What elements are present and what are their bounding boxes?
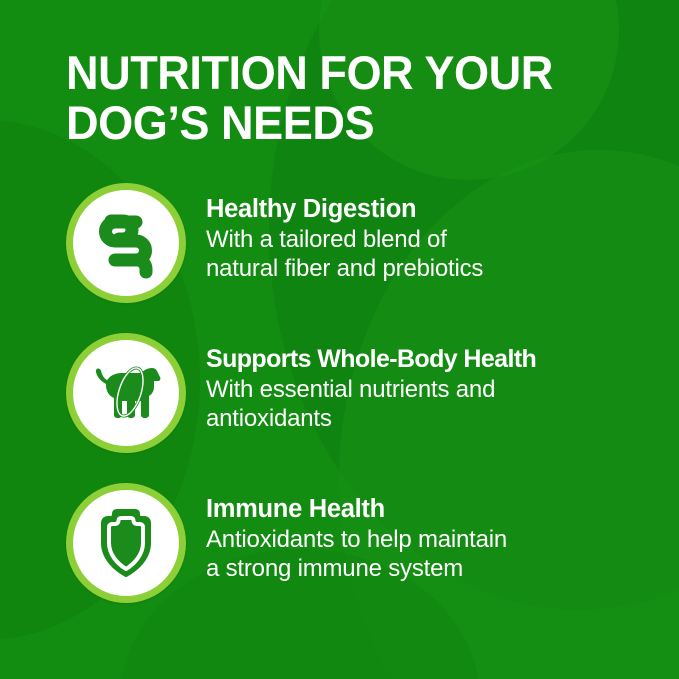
- shield-immune-icon: [89, 503, 163, 583]
- benefit-title: Immune Health: [206, 495, 507, 524]
- benefit-icon-badge: [66, 483, 186, 603]
- benefit-text-block: Healthy Digestion With a tailored blend …: [206, 183, 483, 284]
- page-title: NUTRITION FOR YOUR DOG’S NEEDS: [66, 48, 616, 149]
- benefit-text-block: Immune Health Antioxidants to help maint…: [206, 483, 507, 584]
- poster-content: NUTRITION FOR YOUR DOG’S NEEDS: [0, 0, 679, 603]
- benefit-item-whole-body-health: Supports Whole-Body Health With essentia…: [66, 333, 639, 453]
- benefit-item-immune-health: Immune Health Antioxidants to help maint…: [66, 483, 639, 603]
- badge-inner-circle: [73, 190, 179, 296]
- benefit-text-block: Supports Whole-Body Health With essentia…: [206, 333, 536, 434]
- benefit-title: Supports Whole-Body Health: [206, 345, 536, 373]
- benefit-description: With a tailored blend of natural fiber a…: [206, 225, 483, 284]
- benefit-description: With essential nutrients and antioxidant…: [206, 375, 536, 434]
- benefit-description: Antioxidants to help maintain a strong i…: [206, 525, 507, 584]
- nutrition-benefits-poster: NUTRITION FOR YOUR DOG’S NEEDS: [0, 0, 679, 679]
- badge-inner-circle: [73, 340, 179, 446]
- benefit-icon-badge: [66, 333, 186, 453]
- dog-orbit-whole-body-icon: [86, 357, 166, 429]
- benefit-title: Healthy Digestion: [206, 195, 483, 224]
- badge-inner-circle: [73, 490, 179, 596]
- benefit-list: Healthy Digestion With a tailored blend …: [66, 183, 639, 603]
- benefit-item-healthy-digestion: Healthy Digestion With a tailored blend …: [66, 183, 639, 303]
- intestine-digestion-icon: [89, 204, 163, 282]
- benefit-icon-badge: [66, 183, 186, 303]
